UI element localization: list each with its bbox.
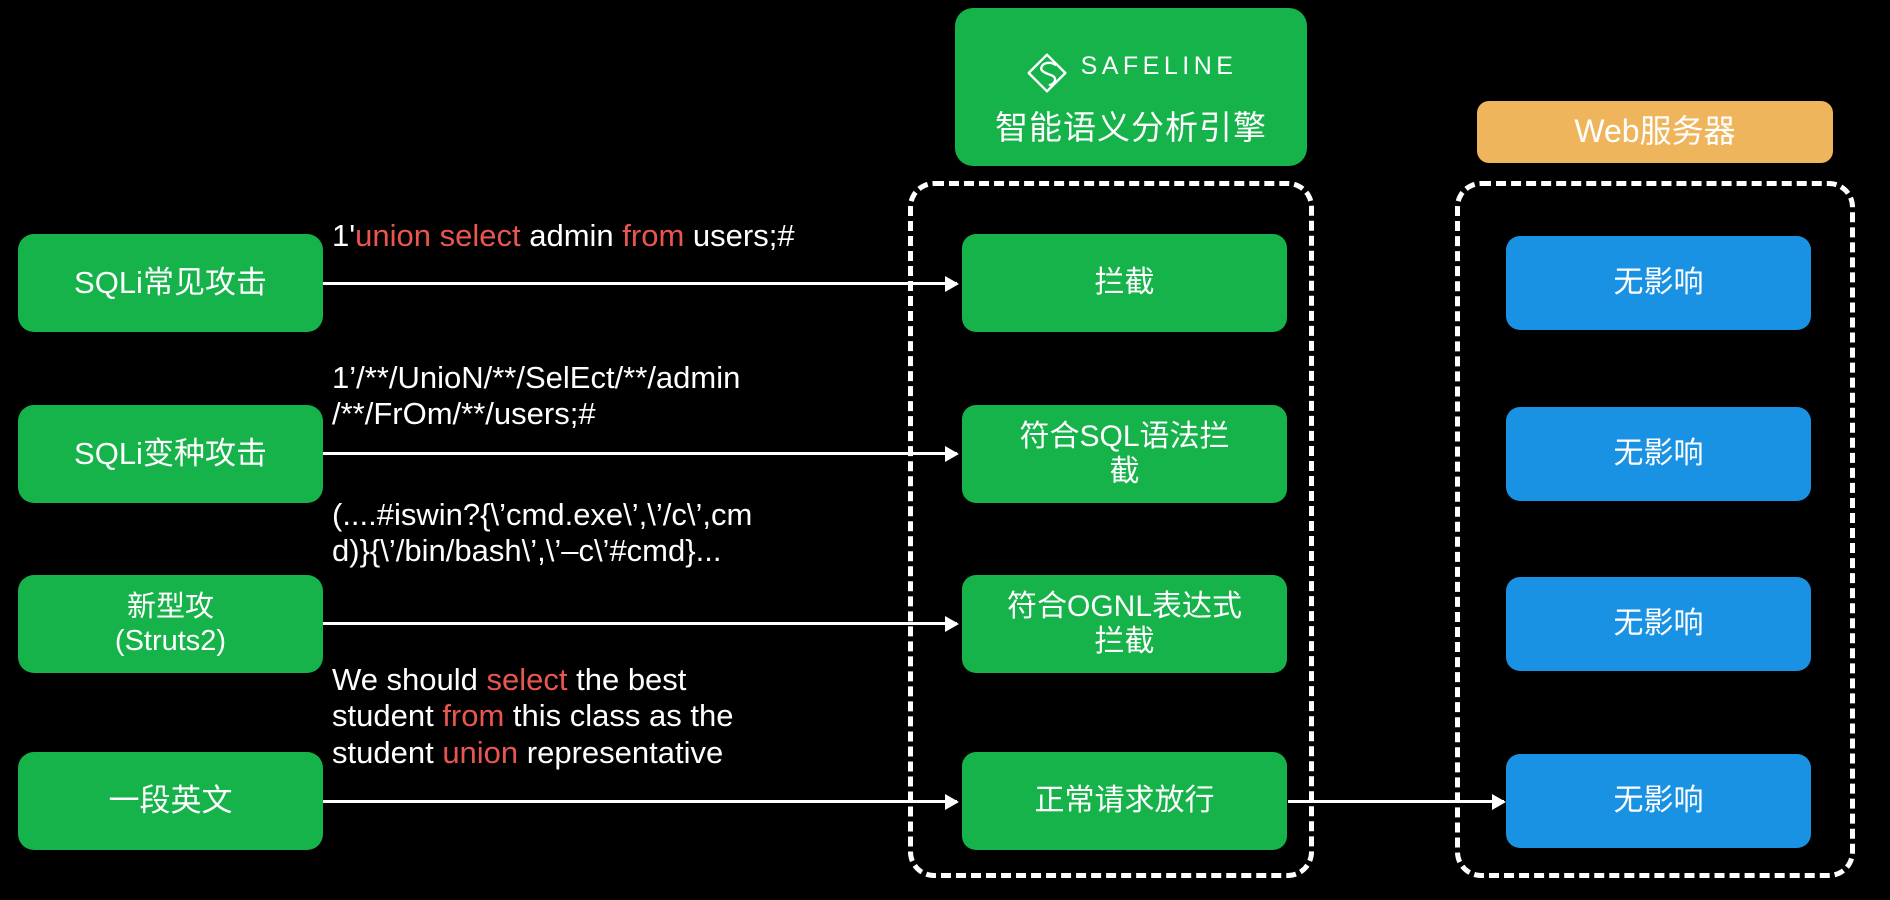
safeline-brand-text: SAFELINE xyxy=(1081,52,1238,82)
payload-text-token: admin xyxy=(521,218,623,253)
arrow-english-to-pass xyxy=(323,800,957,803)
arrow-sqli-variant-to-sql-block xyxy=(323,452,957,455)
engine-header-banner: SAFELINE 智能语义分析引擎 xyxy=(955,8,1307,166)
sql-keyword-token: union xyxy=(442,735,518,770)
attack-box-sqli-common[interactable]: SQLi常见攻击 xyxy=(18,234,323,332)
payload-text-token: We should xyxy=(332,662,487,697)
arrow-struts2-to-ognl-block xyxy=(323,622,957,625)
attack-box-struts2[interactable]: 新型攻 (Struts2) xyxy=(18,575,323,673)
safeline-diamond-s-logo-icon xyxy=(1025,32,1069,101)
result-box-ognl-block[interactable]: 符合OGNL表达式 拦截 xyxy=(962,575,1287,673)
payload-english: We should select the best student from t… xyxy=(332,662,733,771)
payload-struts2: (....#iswin?{\’cmd.exe\’,\’/c\’,cm d)}{\… xyxy=(332,497,752,570)
attack-box-sqli-variant[interactable]: SQLi变种攻击 xyxy=(18,405,323,503)
sql-keyword-token: select xyxy=(487,662,568,697)
payload-text-token: representative xyxy=(518,735,723,770)
sql-keyword-token: from xyxy=(442,698,504,733)
result-box-pass[interactable]: 正常请求放行 xyxy=(962,752,1287,850)
result-box-sql-syntax-block[interactable]: 符合SQL语法拦 截 xyxy=(962,405,1287,503)
impact-box-1[interactable]: 无影响 xyxy=(1506,236,1811,330)
payload-sqli-common: 1'union select admin from users;# xyxy=(332,218,795,254)
impact-box-2[interactable]: 无影响 xyxy=(1506,407,1811,501)
arrow-sqli-common-to-block xyxy=(323,282,957,285)
payload-text-token: (....#iswin?{\’cmd.exe\’,\’/c\’,cm d)}{\… xyxy=(332,497,752,568)
arrow-pass-to-impact xyxy=(1288,800,1504,803)
web-server-header-banner: Web服务器 xyxy=(1477,101,1833,163)
sql-keyword-token: union select xyxy=(355,218,520,253)
engine-title: 智能语义分析引擎 xyxy=(995,109,1267,148)
sql-keyword-token: from xyxy=(622,218,684,253)
payload-text-token: 1' xyxy=(332,218,355,253)
payload-text-token: users;# xyxy=(684,218,794,253)
safeline-logo-row: SAFELINE xyxy=(1025,32,1238,101)
payload-text-token: 1’/**/UnioN/**/SelEct/**/admin /**/FrOm/… xyxy=(332,360,740,431)
impact-box-4[interactable]: 无影响 xyxy=(1506,754,1811,848)
diagram-canvas: SAFELINE 智能语义分析引擎 Web服务器 SQLi常见攻击 SQLi变种… xyxy=(0,0,1890,900)
attack-box-english-text[interactable]: 一段英文 xyxy=(18,752,323,850)
payload-sqli-variant: 1’/**/UnioN/**/SelEct/**/admin /**/FrOm/… xyxy=(332,360,740,433)
result-box-block[interactable]: 拦截 xyxy=(962,234,1287,332)
impact-box-3[interactable]: 无影响 xyxy=(1506,577,1811,671)
